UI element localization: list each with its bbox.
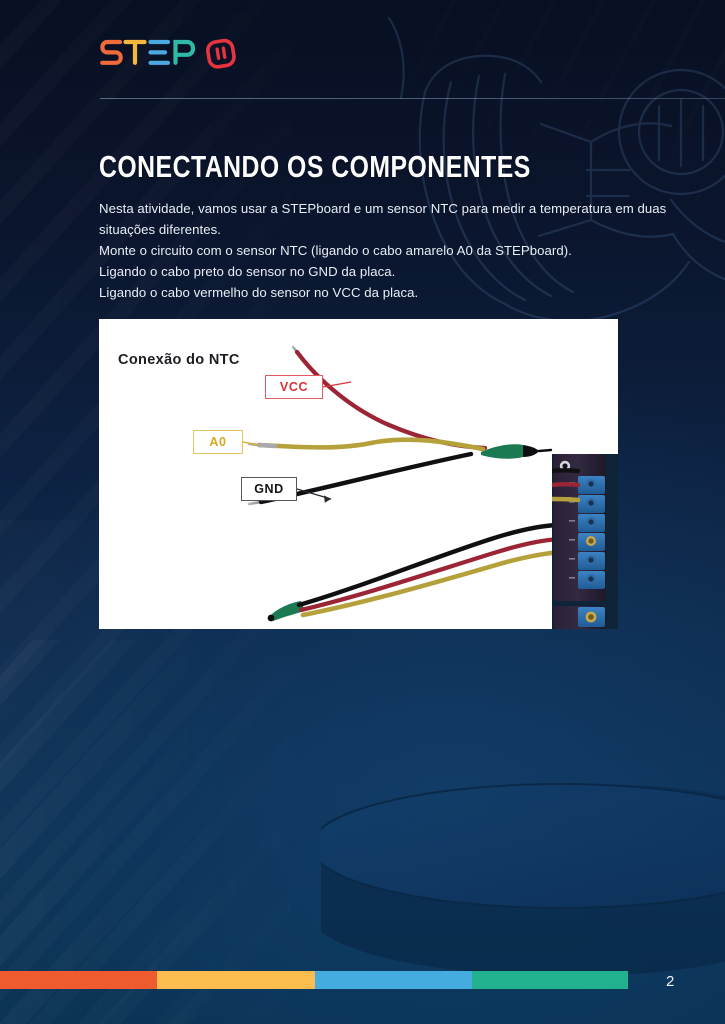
page-content: CONECTANDO OS COMPONENTES Nesta atividad… xyxy=(0,0,725,1024)
callout-vcc-label: VCC xyxy=(280,380,308,394)
paragraph-vcc: Ligando o cabo vermelho do sensor no VCC… xyxy=(99,282,674,303)
step-pause-mark-icon xyxy=(206,38,236,76)
footer-segment-teal xyxy=(472,971,628,989)
body-copy: Nesta atividade, vamos usar a STEPboard … xyxy=(99,198,674,303)
callout-a0-label: A0 xyxy=(209,435,226,449)
footer-segment-blue xyxy=(315,971,472,989)
ntc-connection-figure[interactable]: Conexão do NTC VCC A0 GND xyxy=(99,319,618,629)
callout-gnd-label: GND xyxy=(254,482,284,496)
paragraph-gnd: Ligando o cabo preto do sensor no GND da… xyxy=(99,261,674,282)
stepboard-photo xyxy=(552,454,618,629)
paragraph-assemble: Monte o circuito com o sensor NTC (ligan… xyxy=(99,240,674,261)
footer-color-bar xyxy=(0,971,628,989)
paragraph-intro: Nesta atividade, vamos usar a STEPboard … xyxy=(99,198,674,240)
header-divider xyxy=(100,98,725,99)
footer-segment-amber xyxy=(157,971,315,989)
page-number: 2 xyxy=(666,973,675,990)
callout-a0[interactable]: A0 xyxy=(193,430,243,454)
figure-title: Conexão do NTC xyxy=(118,352,240,368)
page-title: CONECTANDO OS COMPONENTES xyxy=(99,151,531,182)
callout-gnd[interactable]: GND xyxy=(241,477,297,501)
step-logo[interactable] xyxy=(99,33,236,80)
callout-vcc[interactable]: VCC xyxy=(265,375,323,399)
step-logo-wordmark xyxy=(99,34,197,79)
footer-segment-orange xyxy=(0,971,157,989)
